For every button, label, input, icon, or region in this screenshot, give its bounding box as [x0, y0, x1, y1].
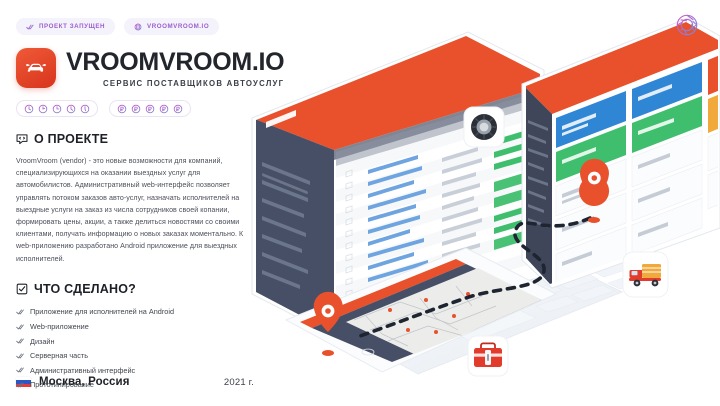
- duration-meter: [16, 100, 98, 117]
- check-icon: [16, 352, 24, 360]
- list-item: Административный интерфейс: [16, 363, 258, 378]
- portfolio-case-slide: ПРОЕКТ ЗАПУЩЕН: [0, 0, 720, 406]
- aperture-ring-logo: [672, 10, 702, 40]
- status-badge-website-label: VROOMVROOM.IO: [147, 23, 209, 30]
- about-body: VroomVroom (vendor) - это новые возможно…: [16, 155, 248, 265]
- list-item: Приложение для исполнителей на Android: [16, 305, 258, 320]
- check-icon: [16, 381, 24, 389]
- dashboard-tiles-screen: [522, 18, 720, 288]
- about-heading: О ПРОЕКТЕ: [34, 132, 108, 146]
- status-badge-website[interactable]: VROOMVROOM.IO: [124, 18, 219, 35]
- about-section-header: О ПРОЕКТЕ: [16, 132, 258, 146]
- brand-subtitle: СЕРВИС ПОСТАВЩИКОВ АВТОУСЛУГ: [66, 79, 284, 88]
- double-check-icon: [26, 23, 34, 31]
- deliverables-list: Приложение для исполнителей на Android W…: [16, 305, 258, 393]
- list-item-label: Серверная часть: [30, 352, 88, 359]
- clock-icon: [38, 104, 48, 114]
- list-item-label: Web-приложение: [30, 323, 89, 330]
- ruble-coin-icon: [131, 104, 141, 114]
- globe-icon: [134, 23, 142, 31]
- case-info-column: ПРОЕКТ ЗАПУЩЕН: [0, 0, 272, 406]
- project-meters: [16, 100, 258, 117]
- ruble-coin-icon: [173, 104, 183, 114]
- done-heading: ЧТО СДЕЛАНО?: [34, 282, 136, 296]
- list-item-label: Административный интерфейс: [30, 367, 135, 374]
- checkbox-icon: [16, 283, 28, 295]
- ruble-coin-icon: [145, 104, 155, 114]
- clock-icon: [80, 104, 90, 114]
- clock-icon: [52, 104, 62, 114]
- floating-card-toolbox: [468, 336, 508, 376]
- vroomvroom-app-icon: [16, 48, 56, 88]
- list-item-label: Прототипирование: [30, 381, 94, 388]
- check-icon: [16, 308, 24, 316]
- done-section-header: ЧТО СДЕЛАНО?: [16, 282, 258, 296]
- status-badge-launched-label: ПРОЕКТ ЗАПУЩЕН: [39, 23, 105, 30]
- chat-code-icon: [16, 133, 28, 145]
- check-icon: [16, 366, 24, 374]
- list-item: Web-приложение: [16, 319, 258, 334]
- list-item: Серверная часть: [16, 348, 258, 363]
- budget-meter: [109, 100, 191, 117]
- check-icon: [16, 323, 24, 331]
- status-badge-row: ПРОЕКТ ЗАПУЩЕН: [16, 18, 258, 35]
- list-item: Прототипирование: [16, 378, 258, 393]
- check-icon: [16, 337, 24, 345]
- list-item-label: Дизайн: [30, 338, 55, 345]
- list-item-label: Приложение для исполнителей на Android: [30, 308, 174, 315]
- list-item: Дизайн: [16, 334, 258, 349]
- floating-card-tire: [464, 107, 504, 147]
- clock-icon: [66, 104, 76, 114]
- status-badge-launched: ПРОЕКТ ЗАПУЩЕН: [16, 18, 115, 35]
- page-title: VROOMVROOM.IO: [66, 50, 284, 75]
- floating-card-truck: [623, 252, 668, 297]
- ruble-coin-icon: [117, 104, 127, 114]
- isometric-devices-mockup: [250, 0, 720, 406]
- brand-header: VROOMVROOM.IO СЕРВИС ПОСТАВЩИКОВ АВТОУСЛ…: [16, 48, 258, 88]
- ruble-coin-icon: [159, 104, 169, 114]
- clock-icon: [24, 104, 34, 114]
